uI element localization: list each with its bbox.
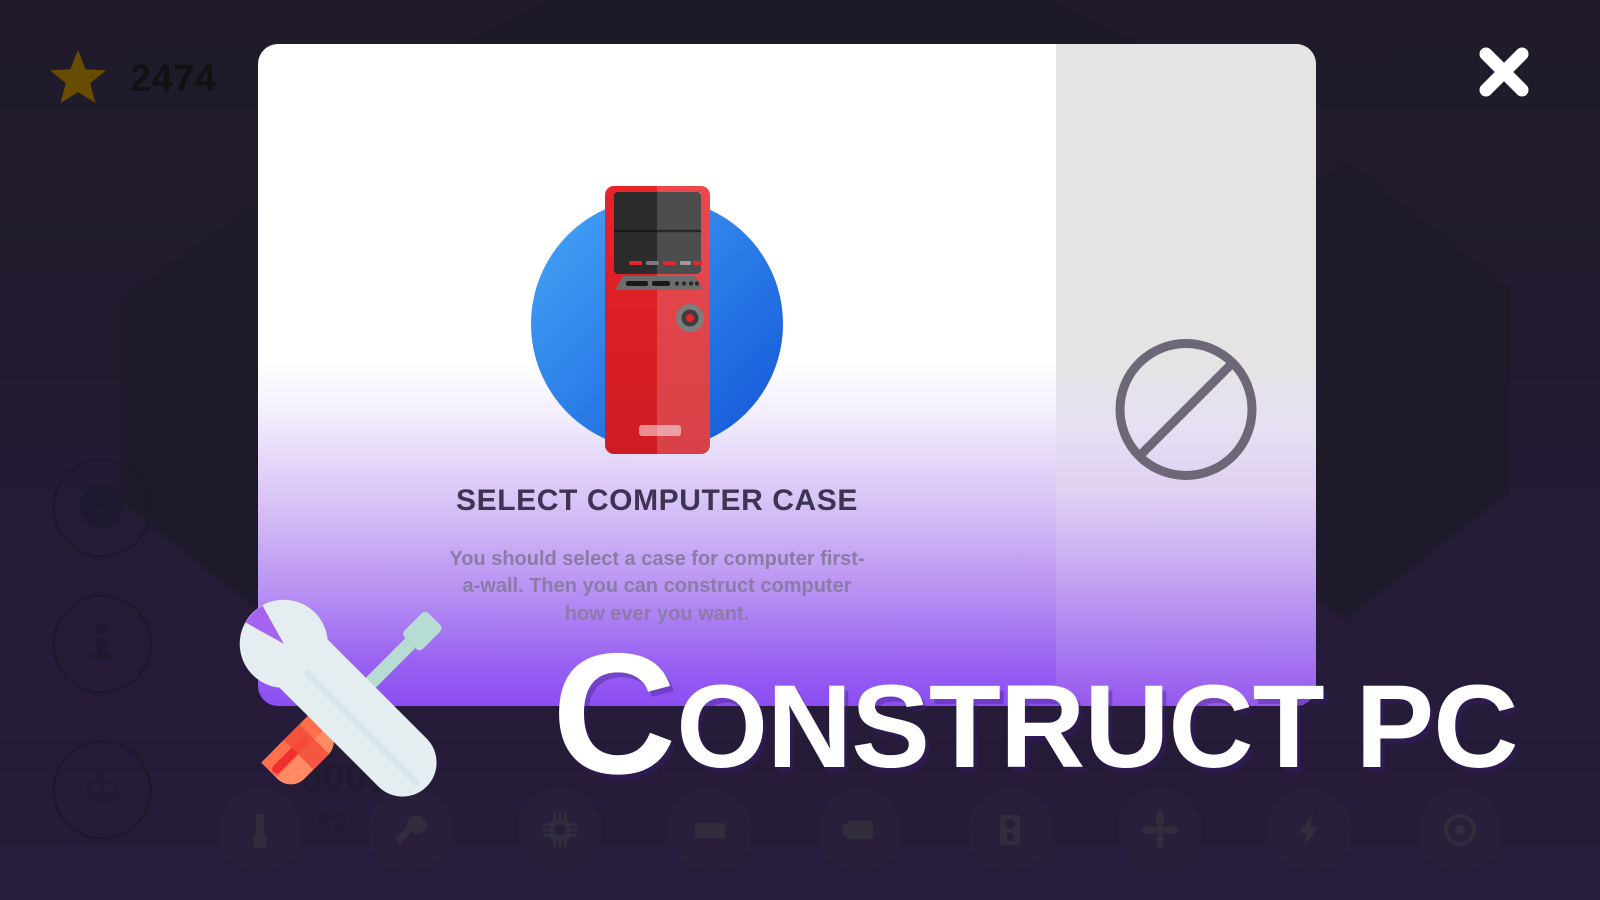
close-icon bbox=[1472, 40, 1536, 109]
score-value: 2474 bbox=[130, 58, 217, 101]
brand-first-letter: C bbox=[552, 618, 676, 810]
dialog-locked-panel[interactable] bbox=[1056, 44, 1316, 706]
score-display: 2474 bbox=[48, 48, 217, 111]
dialog-description: You should select a case for computer fi… bbox=[447, 546, 867, 628]
page-title: SELECT COMPUTER CASE bbox=[258, 484, 1056, 518]
brand-title: CONSTRUCT PC bbox=[552, 628, 1517, 800]
close-button[interactable] bbox=[1468, 38, 1540, 110]
dialog-main-panel[interactable]: SELECT COMPUTER CASE You should select a… bbox=[258, 44, 1056, 706]
power-button-icon bbox=[676, 304, 704, 332]
brand-rest: ONSTRUCT PC bbox=[676, 661, 1517, 793]
star-icon bbox=[48, 48, 108, 111]
select-case-dialog: SELECT COMPUTER CASE You should select a… bbox=[258, 44, 1316, 706]
no-entry-icon bbox=[1111, 335, 1261, 490]
computer-case-icon bbox=[531, 178, 783, 456]
